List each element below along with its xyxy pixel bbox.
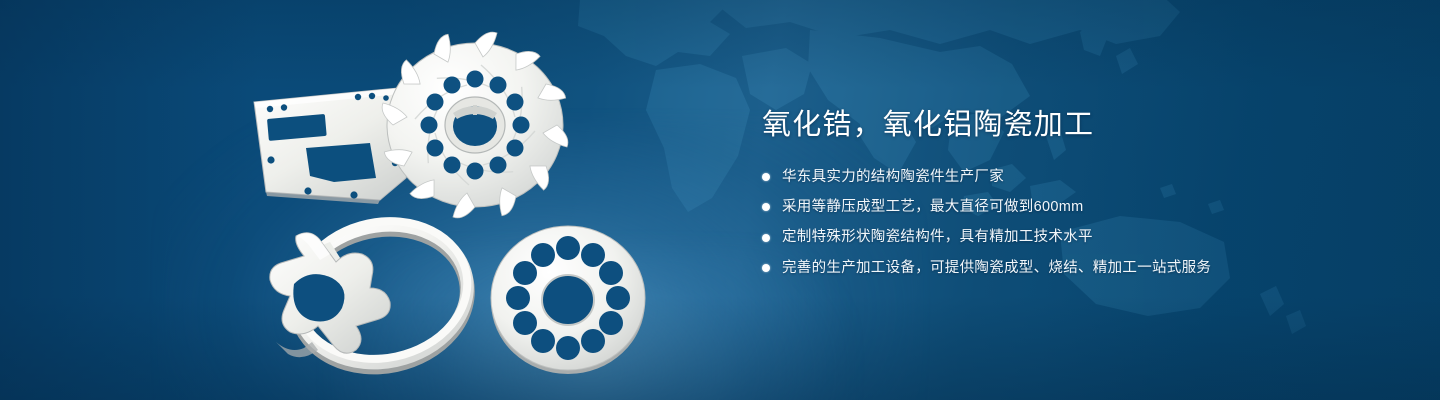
list-item-label: 完善的生产加工设备，可提供陶瓷成型、烧结、精加工一站式服务 [782,259,1211,277]
promo-banner: 氧化锆，氧化铝陶瓷加工 华东具实力的结构陶瓷件生产厂家 采用等静压成型工艺，最大… [0,0,1440,400]
list-item: 定制特殊形状陶瓷结构件，具有精加工技术水平 [762,228,1362,246]
ceramic-products-image [230,40,700,380]
product-impeller-disc [382,32,568,218]
bullet-dot-icon [762,264,770,272]
banner-text-block: 氧化锆，氧化铝陶瓷加工 华东具实力的结构陶瓷件生产厂家 采用等静压成型工艺，最大… [762,108,1362,277]
list-item-label: 定制特殊形状陶瓷结构件，具有精加工技术水平 [782,228,1093,246]
list-item: 完善的生产加工设备，可提供陶瓷成型、烧结、精加工一站式服务 [762,259,1362,277]
bullet-dot-icon [762,234,770,242]
product-perforated-disc [491,226,645,374]
list-item-label: 采用等静压成型工艺，最大直径可做到600mm [782,198,1083,216]
page-title: 氧化锆，氧化铝陶瓷加工 [762,108,1362,142]
feature-list: 华东具实力的结构陶瓷件生产厂家 采用等静压成型工艺，最大直径可做到600mm 定… [762,168,1362,277]
bullet-dot-icon [762,173,770,181]
bullet-dot-icon [762,203,770,211]
list-item-label: 华东具实力的结构陶瓷件生产厂家 [782,168,1004,186]
list-item: 采用等静压成型工艺，最大直径可做到600mm [762,198,1362,216]
list-item: 华东具实力的结构陶瓷件生产厂家 [762,168,1362,186]
